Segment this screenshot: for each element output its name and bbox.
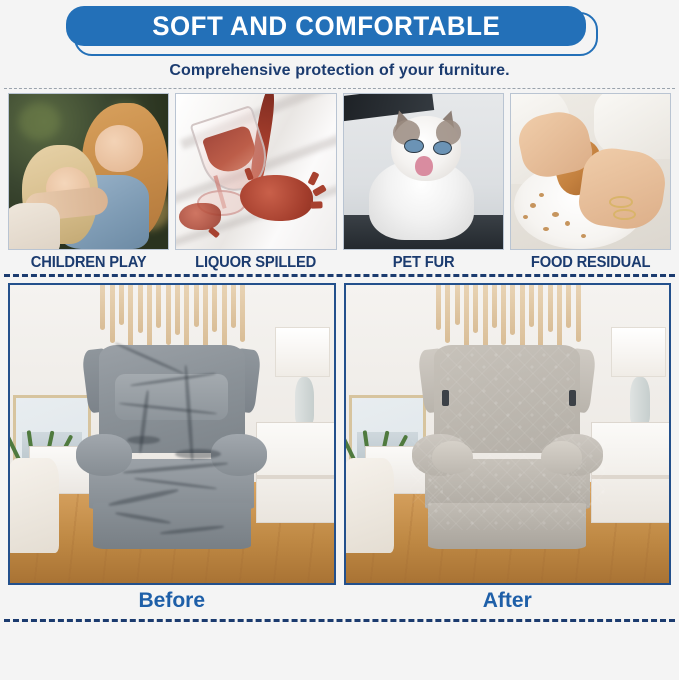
divider-navy-dashed-bottom: [4, 619, 675, 622]
recliner-chair-dirty: [78, 345, 266, 554]
recliner-chair-covered: [413, 345, 601, 554]
slipcover-arm-wrap-right: [541, 441, 582, 474]
feature-photo-food-residual: [510, 93, 671, 250]
label-after: After: [344, 585, 672, 617]
after-image: [344, 283, 672, 585]
feature-photo-pet-fur: [343, 93, 504, 250]
header-banner: SOFT AND COMFORTABLE: [0, 4, 679, 56]
slipcover-arm-wrap-left: [432, 441, 473, 474]
header-subtitle: Comprehensive protection of your furnitu…: [0, 62, 679, 80]
feature-caption-liquor-spilled: LIQUOR SPILLED: [179, 254, 332, 272]
comparison-panel-after: After: [344, 283, 672, 617]
feature-caption-food-residual: FOOD RESIDUAL: [514, 254, 667, 272]
comparison-row: Before: [0, 277, 679, 617]
slipcover-strap-left: [442, 390, 449, 406]
slipcover-backrest: [440, 347, 575, 451]
feature-photo-children-play: [8, 93, 169, 250]
label-before: Before: [8, 585, 336, 617]
feature-caption-pet-fur: PET FUR: [347, 254, 500, 272]
slipcover-strap-right: [569, 390, 576, 406]
before-image: [8, 283, 336, 585]
feature-photo-row: [0, 89, 679, 250]
feature-photo-liquor-spilled: [175, 93, 336, 250]
feature-caption-row: CHILDREN PLAY LIQUOR SPILLED PET FUR FOO…: [0, 250, 679, 274]
banner-fill: SOFT AND COMFORTABLE: [66, 6, 586, 46]
banner-title: SOFT AND COMFORTABLE: [152, 11, 500, 42]
feature-caption-children-play: CHILDREN PLAY: [12, 254, 165, 272]
comparison-panel-before: Before: [8, 283, 336, 617]
